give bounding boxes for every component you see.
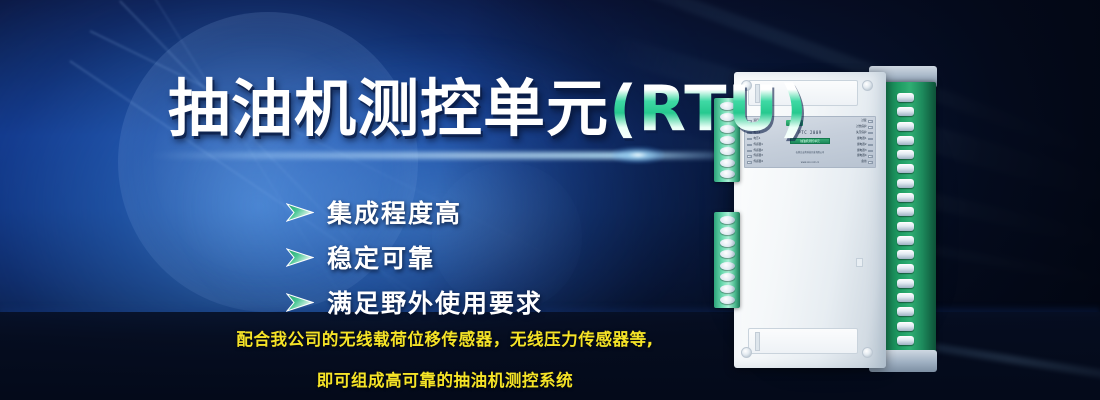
feature-item: 集成程度高	[286, 190, 543, 234]
feature-list: 集成程度高 稳定可靠 满足野外使用要求	[286, 190, 543, 325]
footer-line-1: 配合我公司的无线载荷位移传感器，无线压力传感器等,	[0, 332, 890, 349]
banner-content: 抽油机测控单元(RTU) 集成程度高 稳定可靠	[0, 0, 1100, 400]
footer-line-2: 即可组成高可靠的抽油机测控系统	[0, 373, 890, 390]
feature-label: 集成程度高	[327, 194, 462, 230]
feature-item: 稳定可靠	[286, 235, 543, 279]
page-title-suffix: (RTU)	[609, 72, 808, 145]
footer-text: 配合我公司的无线载荷位移传感器，无线压力传感器等, 即可组成高可靠的抽油机测控系…	[0, 332, 890, 389]
arrow-right-icon	[286, 293, 314, 312]
page-title: 抽油机测控单元(RTU)	[168, 78, 808, 140]
arrow-right-icon	[286, 248, 314, 267]
feature-label: 满足野外使用要求	[327, 284, 543, 320]
page-title-main: 抽油机测控单元	[168, 72, 609, 145]
arrow-right-icon	[286, 203, 314, 222]
feature-item: 满足野外使用要求	[286, 280, 543, 324]
feature-label: 稳定可靠	[327, 239, 435, 275]
product-banner: 运行 通讯 电压2 电压1 传感器1 传感器2 传感器3 传感器4 远程终端 P…	[0, 0, 1100, 400]
